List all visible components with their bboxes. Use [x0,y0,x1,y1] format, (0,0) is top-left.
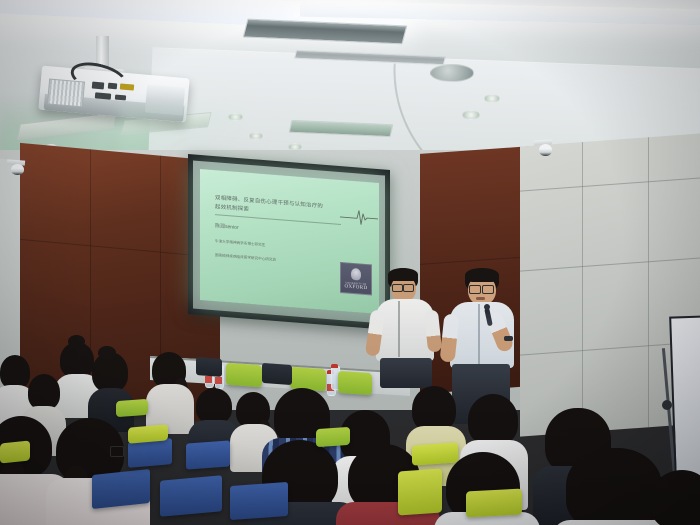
shirt-button-placket [478,304,480,364]
ceiling-downlight [484,94,500,103]
chair [0,440,30,463]
whiteboard [669,315,700,480]
tablet-arm-desk [230,482,288,520]
slide-affiliation-1: 牛津大学精神病学系博士研究生 [215,238,265,249]
chair [196,357,222,377]
oxford-crest-icon [351,268,361,281]
audience-hair [468,394,518,446]
chair [262,363,292,385]
oxford-university-logo: UNIVERSITY OF OXFORD [340,262,372,296]
audience-hair [566,448,662,525]
presenter-glasses [469,285,481,294]
slide-author: 陈润senior [215,222,239,231]
bottle-label [215,377,222,384]
chair [338,371,372,395]
ceiling-downlight [249,132,263,140]
microphone-head [484,304,490,310]
chair [398,468,442,515]
acoustic-panel-seam [582,142,583,432]
acoustic-panel-seam [520,257,700,271]
camera-dome [11,164,24,175]
oxford-logo-text: OXFORD [343,284,369,291]
tablet-arm-desk [160,475,222,516]
wood-panel-seam [420,256,530,265]
presenter-hair-top [388,268,418,281]
camera-dome [539,144,552,156]
eyeglasses [110,446,124,457]
chair [226,363,262,388]
presenter-hair-top [465,268,499,282]
presenter-glasses [403,284,414,292]
tablet-arm-desk [186,440,230,469]
projector-port [115,95,126,101]
shirt-button-placket [398,301,400,357]
audience-hair [28,374,60,410]
hair-bun [98,346,116,360]
tablet-arm-desk [92,469,150,509]
bottle-label [205,376,212,383]
slide-title: 双相障碍、反复自伤心理干预与认知治疗的 起效机制探索 [215,194,345,222]
chair [466,489,522,518]
presenter-trousers [380,358,432,388]
presenter-glasses [392,284,403,292]
audience-hair [196,388,232,424]
ceiling-downlight [462,110,480,120]
presenter-mouth [476,297,485,300]
audience-hair [0,355,30,389]
slide-affiliation-2: 国家精神疾病临床医学研究中心研究员 [215,252,276,264]
ecg-heartbeat-icon [340,205,378,228]
hair-bun [68,335,85,348]
chair [116,399,148,417]
wristwatch [504,336,513,341]
ceiling-speaker [430,64,474,82]
bottle-cap [331,364,338,368]
projected-slide: 双相障碍、反复自伤心理干预与认知治疗的 起效机制探索 陈润senior 牛津大学… [200,169,379,314]
chair [316,427,350,447]
lecture-hall-photo: 双相障碍、反复自伤心理干预与认知治疗的 起效机制探索 陈润senior 牛津大学… [0,0,700,525]
whiteboard-adjust-knob [662,400,672,410]
acoustic-panel-seam [520,177,700,191]
chair [412,442,458,465]
presenter-glasses [482,285,494,294]
acoustic-panel-seam [648,137,649,427]
